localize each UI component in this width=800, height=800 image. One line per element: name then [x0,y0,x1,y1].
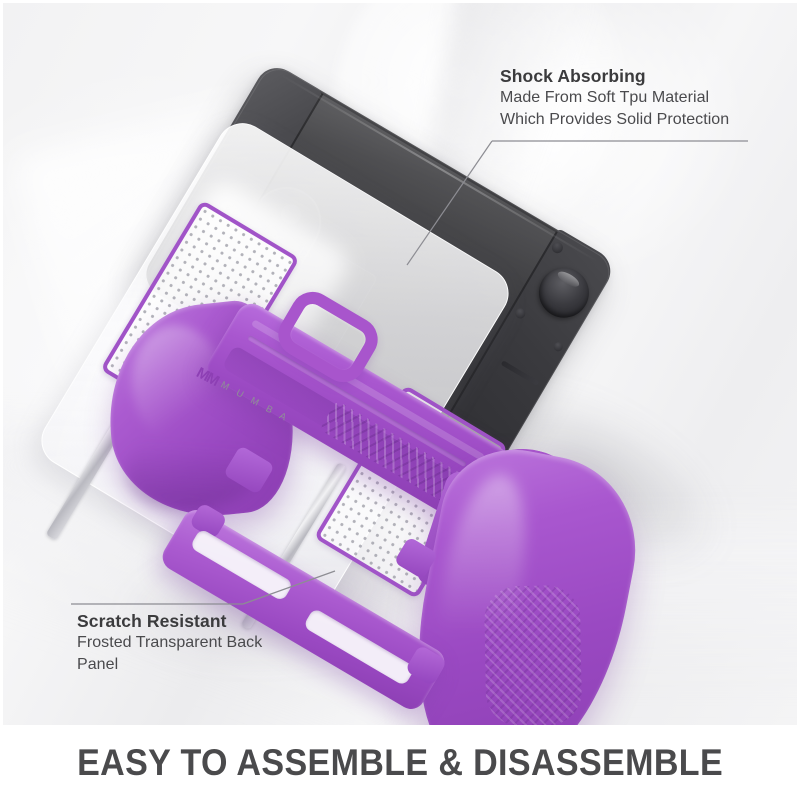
bottom-banner: EASY TO ASSEMBLE & DISASSEMBLE [0,725,800,800]
callout-title: Scratch Resistant [77,610,327,632]
callout-shock-absorbing: Shock Absorbing Made From Soft Tpu Mater… [500,65,762,130]
callout-description-line: Made From Soft Tpu Material [500,87,762,108]
callout-description-line: Panel [77,654,327,675]
callout-description-line: Frosted Transparent Back [77,632,327,653]
product-photo: MM M U M B A Shock Absorbing Made From S… [3,3,797,725]
grip-crosshatch-texture [484,585,582,725]
product-image-canvas: MM M U M B A Shock Absorbing Made From S… [0,0,800,800]
callout-description-line: Which Provides Solid Protection [500,109,762,130]
callout-scratch-resistant: Scratch Resistant Frosted Transparent Ba… [77,610,327,675]
banner-headline: EASY TO ASSEMBLE & DISASSEMBLE [77,742,723,784]
callout-title: Shock Absorbing [500,65,762,87]
protective-case [51,153,521,583]
